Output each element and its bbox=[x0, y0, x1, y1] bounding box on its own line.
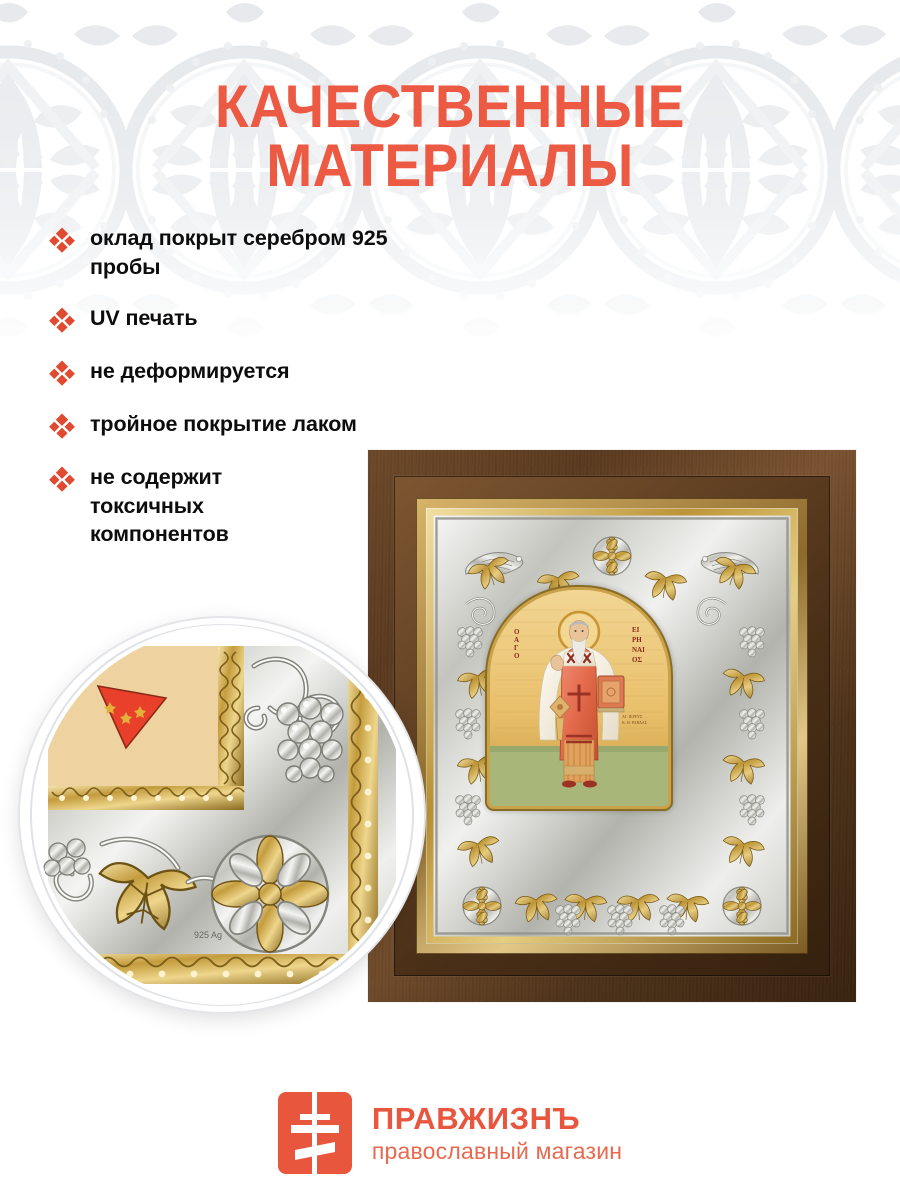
list-item: UV печать bbox=[48, 304, 448, 334]
svg-text:ΝΑΙ: ΝΑΙ bbox=[632, 646, 645, 654]
svg-text:Ο: Ο bbox=[514, 628, 520, 636]
brand-tagline: православный магазин bbox=[372, 1140, 622, 1163]
features-list: оклад покрыт серебром 925 пробы UV печат… bbox=[48, 224, 448, 549]
svg-text:Ο: Ο bbox=[514, 652, 520, 660]
feature-text: не деформируется bbox=[90, 357, 290, 386]
orthodox-cross-logo-icon bbox=[278, 1092, 352, 1174]
feature-text: оклад покрыт серебром 925 пробы bbox=[90, 224, 448, 281]
svg-text:Γ: Γ bbox=[514, 644, 519, 652]
list-item: оклад покрыт серебром 925 пробы bbox=[48, 224, 448, 281]
svg-text:925 Ag: 925 Ag bbox=[194, 930, 222, 940]
diamond-cluster-icon bbox=[48, 226, 76, 254]
feature-text: UV печать bbox=[90, 304, 198, 333]
silver-oklad: Ο Α Γ Ο ΕΙ ΡΗ ΝΑΙ ΟΣ ΑΓ. ΙΕΡΕΥΣ Κ. Θ. ΡΑ… bbox=[426, 508, 798, 944]
list-item: не деформируется bbox=[48, 357, 448, 387]
page-title-line-2: МАТЕРИАЛЫ bbox=[36, 137, 864, 196]
svg-text:ΑΓ. ΙΕΡΕΥΣ: ΑΓ. ΙΕΡΕΥΣ bbox=[622, 714, 643, 719]
feature-text: не содержит токсичных компонентов bbox=[90, 463, 290, 549]
saint-icon-image: Ο Α Γ Ο ΕΙ ΡΗ ΝΑΙ ΟΣ ΑΓ. ΙΕΡΕΥΣ Κ. Θ. ΡΑ… bbox=[490, 590, 668, 806]
magnifier-content: 925 Ag bbox=[26, 624, 418, 1006]
svg-text:Κ. Θ. ΡΑΒΔΑΣ: Κ. Θ. ΡΑΒΔΑΣ bbox=[622, 720, 648, 725]
list-item: тройное покрытие лаком bbox=[48, 410, 448, 440]
list-item: не содержит токсичных компонентов bbox=[48, 463, 328, 549]
brand-name: ПРАВЖИЗНЪ bbox=[372, 1103, 622, 1134]
diamond-cluster-icon bbox=[48, 412, 76, 440]
brand-logo[interactable]: ПРАВЖИЗНЪ православный магазин bbox=[0, 1092, 900, 1174]
feature-text: тройное покрытие лаком bbox=[90, 410, 357, 439]
diamond-cluster-icon bbox=[48, 359, 76, 387]
promo-page: КАЧЕСТВЕННЫЕ МАТЕРИАЛЫ оклад покрыт сере… bbox=[0, 0, 900, 1200]
svg-text:ΡΗ: ΡΗ bbox=[632, 636, 642, 644]
brand-logo-text: ПРАВЖИЗНЪ православный магазин bbox=[372, 1103, 622, 1163]
page-title: КАЧЕСТВЕННЫЕ МАТЕРИАЛЫ bbox=[36, 78, 864, 196]
svg-text:Α: Α bbox=[514, 636, 519, 644]
diamond-cluster-icon bbox=[48, 306, 76, 334]
svg-text:ΕΙ: ΕΙ bbox=[632, 626, 640, 634]
svg-text:ΟΣ: ΟΣ bbox=[632, 656, 642, 664]
page-title-line-1: КАЧЕСТВЕННЫЕ bbox=[36, 78, 864, 137]
oklad-detail-magnifier: 925 Ag bbox=[20, 618, 424, 1012]
diamond-cluster-icon bbox=[48, 465, 76, 493]
